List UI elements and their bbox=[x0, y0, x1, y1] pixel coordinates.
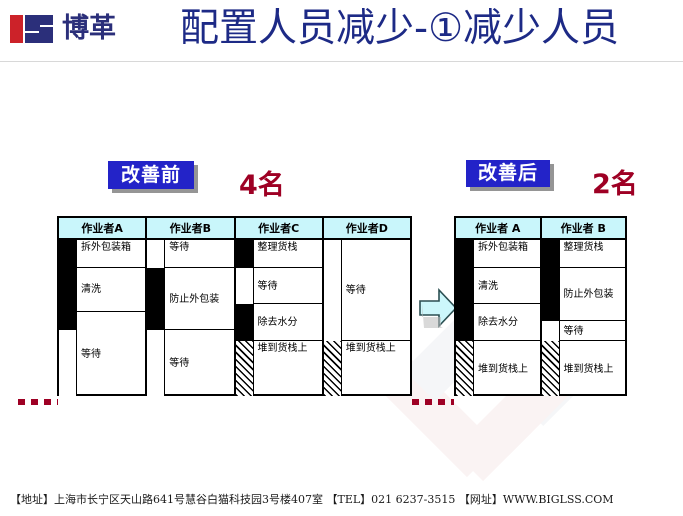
lane-segment-hatch bbox=[542, 341, 559, 396]
banner-after: 改善后 bbox=[466, 160, 550, 187]
task-block: 拆外包装箱 bbox=[474, 240, 540, 268]
after-chart: 作业者 A作业者 B 拆外包装箱清洗除去水分堆到货栈上整理货栈防止外包装等待堆到… bbox=[454, 216, 627, 396]
dashed-connector-left bbox=[18, 399, 58, 405]
task-block: 堆到货栈上 bbox=[560, 341, 626, 396]
task-block: 防止外包装 bbox=[560, 268, 626, 321]
count-after: 2名 bbox=[592, 162, 638, 201]
task-block: 等待 bbox=[165, 330, 233, 396]
lane-segment-hatch bbox=[324, 341, 341, 396]
before-worker-column: 拆外包装箱清洗等待 bbox=[59, 240, 147, 396]
task-block: 防止外包装 bbox=[165, 268, 233, 330]
after-column-header: 作业者 B bbox=[542, 218, 626, 238]
lane-segment-white bbox=[324, 240, 341, 341]
task-block: 清洗 bbox=[474, 268, 540, 304]
banner-before: 改善前 bbox=[108, 161, 194, 189]
lane-segment-white bbox=[236, 268, 253, 304]
logo-wordmark: 博革 bbox=[62, 14, 116, 44]
before-header-row: 作业者A作业者B作业者C作业者D bbox=[59, 218, 410, 240]
task-block: 等待 bbox=[165, 240, 233, 268]
task-block: 等待 bbox=[560, 321, 626, 341]
before-task-list: 等待堆到货栈上 bbox=[342, 240, 410, 396]
dashed-connector-right bbox=[412, 399, 454, 405]
lane-segment-white bbox=[542, 321, 559, 341]
task-block: 等待 bbox=[342, 240, 410, 341]
before-column-header: 作业者B bbox=[147, 218, 235, 238]
task-block: 堆到货栈上 bbox=[254, 341, 322, 396]
before-worker-column: 等待防止外包装等待 bbox=[147, 240, 235, 396]
after-column-header: 作业者 A bbox=[456, 218, 542, 238]
task-block: 整理货栈 bbox=[560, 240, 626, 268]
task-block: 除去水分 bbox=[254, 304, 322, 341]
count-before: 4名 bbox=[239, 163, 285, 202]
lane-segment-black bbox=[236, 240, 253, 268]
before-task-list: 整理货栈等待除去水分堆到货栈上 bbox=[254, 240, 322, 396]
before-task-list: 拆外包装箱清洗等待 bbox=[77, 240, 145, 396]
slide-header: 博革 配置人员减少-①减少人员 bbox=[0, 0, 683, 62]
slide-canvas: 博革 配置人员减少-①减少人员 改善前 4名 改善后 2名 作业者A作业者B作业… bbox=[0, 0, 683, 516]
before-column-header: 作业者D bbox=[324, 218, 410, 238]
after-worker-column: 拆外包装箱清洗除去水分堆到货栈上 bbox=[456, 240, 542, 396]
task-block: 堆到货栈上 bbox=[474, 341, 540, 396]
after-task-list: 拆外包装箱清洗除去水分堆到货栈上 bbox=[474, 240, 540, 396]
page-title: 配置人员减少-①减少人员 bbox=[180, 4, 680, 56]
after-header-row: 作业者 A作业者 B bbox=[456, 218, 625, 240]
lane-segment-white bbox=[147, 240, 164, 268]
before-task-list: 等待防止外包装等待 bbox=[165, 240, 233, 396]
task-block: 清洗 bbox=[77, 268, 145, 312]
lane-segment-white bbox=[59, 330, 76, 396]
bg-logo-icon bbox=[8, 13, 58, 45]
task-block: 拆外包装箱 bbox=[77, 240, 145, 268]
task-block: 堆到货栈上 bbox=[342, 341, 410, 396]
lane-segment-black bbox=[236, 304, 253, 341]
before-chart: 作业者A作业者B作业者C作业者D 拆外包装箱清洗等待等待防止外包装等待整理货栈等… bbox=[57, 216, 412, 396]
lane-segment-black bbox=[542, 240, 559, 321]
lane-segment-hatch bbox=[236, 341, 253, 396]
after-task-list: 整理货栈防止外包装等待堆到货栈上 bbox=[560, 240, 626, 396]
header-divider bbox=[0, 61, 683, 62]
before-status-lane bbox=[59, 240, 77, 396]
before-body-row: 拆外包装箱清洗等待等待防止外包装等待整理货栈等待除去水分堆到货栈上等待堆到货栈上 bbox=[59, 240, 410, 396]
before-column-header: 作业者C bbox=[236, 218, 324, 238]
lane-segment-white bbox=[147, 330, 164, 396]
task-block: 除去水分 bbox=[474, 304, 540, 341]
task-block: 整理货栈 bbox=[254, 240, 322, 268]
before-worker-column: 等待堆到货栈上 bbox=[324, 240, 410, 396]
task-block: 等待 bbox=[254, 268, 322, 304]
lane-segment-black bbox=[456, 240, 473, 341]
before-status-lane bbox=[147, 240, 165, 396]
after-status-lane bbox=[542, 240, 560, 396]
footer-contact: 【地址】上海市长宁区天山路641号慧谷白猫科技园3号楼407室 【TEL】021… bbox=[10, 491, 680, 509]
before-column-header: 作业者A bbox=[59, 218, 147, 238]
after-worker-column: 整理货栈防止外包装等待堆到货栈上 bbox=[542, 240, 626, 396]
before-status-lane bbox=[324, 240, 342, 396]
before-status-lane bbox=[236, 240, 254, 396]
lane-segment-hatch bbox=[456, 341, 473, 396]
lane-segment-black bbox=[147, 268, 164, 330]
after-status-lane bbox=[456, 240, 474, 396]
after-body-row: 拆外包装箱清洗除去水分堆到货栈上整理货栈防止外包装等待堆到货栈上 bbox=[456, 240, 625, 396]
before-worker-column: 整理货栈等待除去水分堆到货栈上 bbox=[236, 240, 324, 396]
lane-segment-black bbox=[59, 240, 76, 330]
task-block: 等待 bbox=[77, 312, 145, 396]
company-logo: 博革 bbox=[8, 10, 120, 50]
